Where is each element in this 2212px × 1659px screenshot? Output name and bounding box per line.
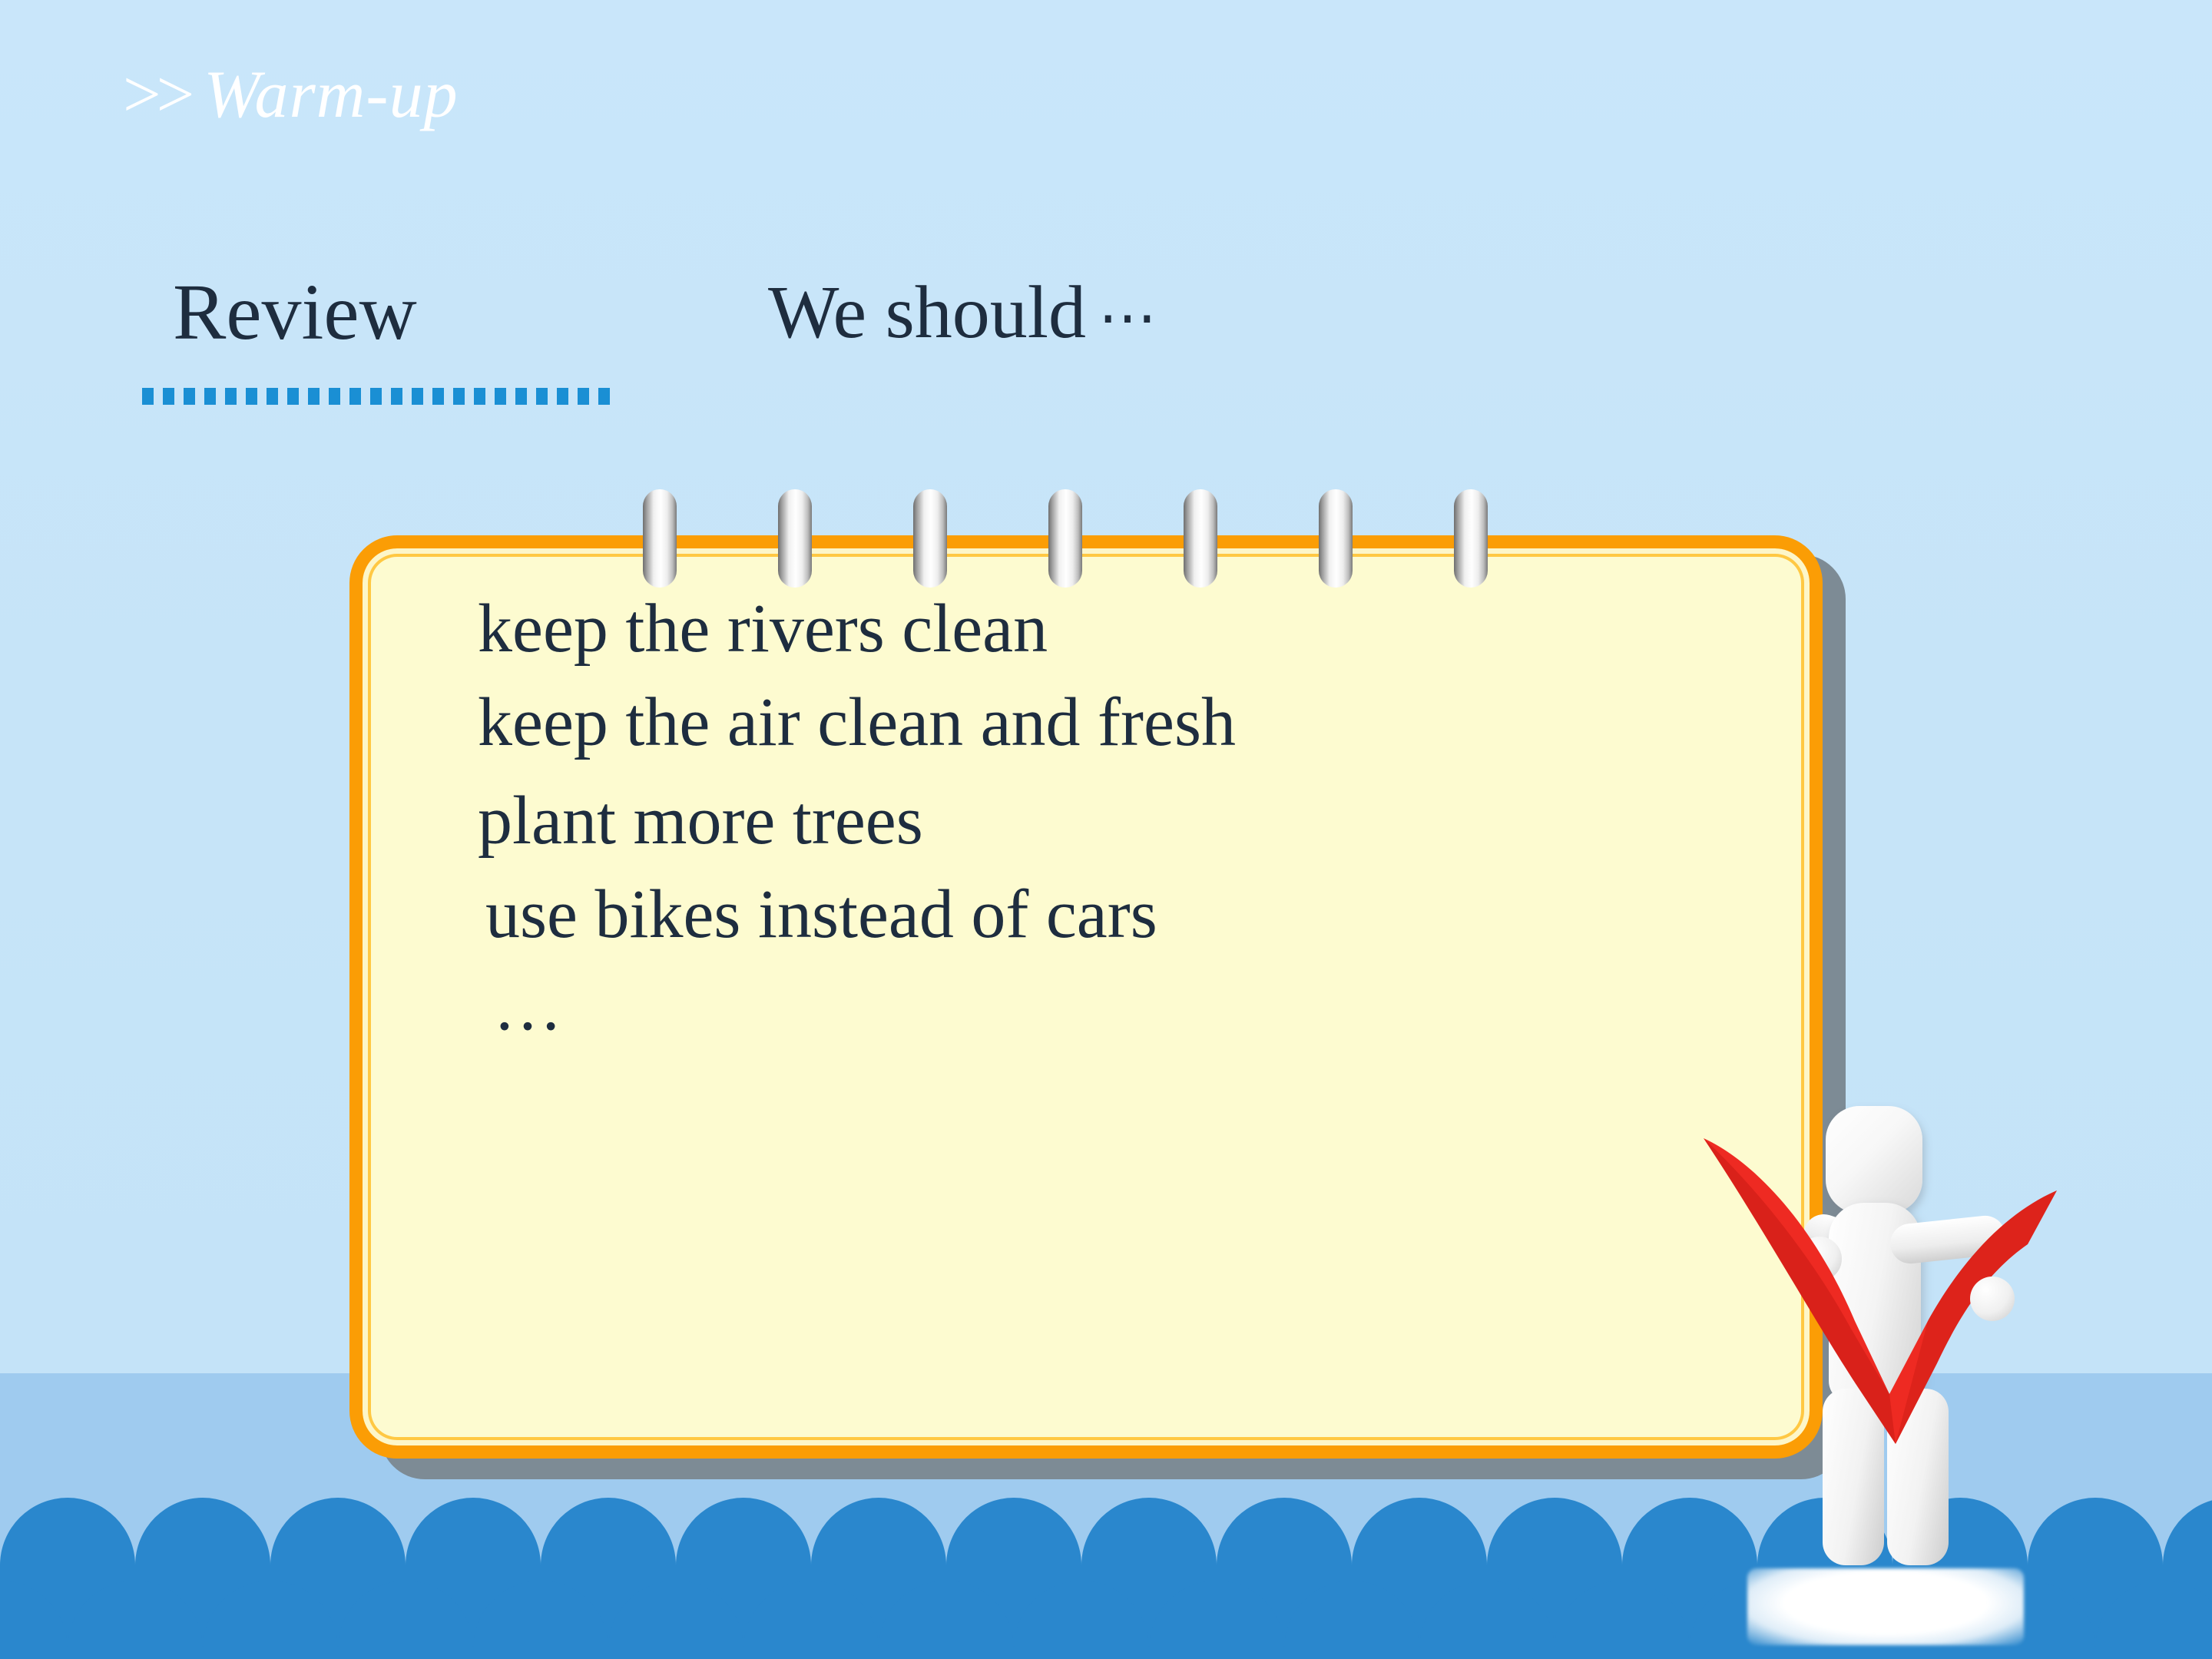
wave-arch bbox=[1284, 1581, 1419, 1659]
slide-canvas: >>Warm-up Review We should⋯ keep the riv… bbox=[0, 0, 2212, 1659]
prompt-ellipsis-icon: ⋯ bbox=[1086, 286, 1161, 350]
notepad-line: plant more trees bbox=[363, 786, 1925, 856]
wave-arch bbox=[608, 1581, 743, 1659]
spiral-ring bbox=[643, 489, 677, 588]
spiral-ring bbox=[1184, 489, 1217, 588]
wave-arch bbox=[203, 1581, 338, 1659]
prompt-text: We should⋯ bbox=[768, 275, 1161, 350]
wave-arch bbox=[1014, 1581, 1149, 1659]
wave-arch bbox=[0, 1581, 68, 1659]
wave-arch bbox=[68, 1581, 203, 1659]
section-marker-chevrons: >> bbox=[123, 58, 204, 132]
notepad-line: keep the rivers clean bbox=[363, 594, 1925, 664]
wave-arch bbox=[1149, 1581, 1284, 1659]
notepad-panel: keep the rivers cleankeep the air clean … bbox=[349, 535, 1823, 1459]
figure-head bbox=[1826, 1106, 1922, 1214]
figure-left-hand bbox=[1797, 1237, 1842, 1281]
figure-right-leg bbox=[1887, 1389, 1949, 1565]
page-title: Review bbox=[173, 273, 417, 353]
wave-arch bbox=[338, 1581, 473, 1659]
page-title-dotted-underline bbox=[142, 388, 611, 405]
spiral-ring bbox=[1319, 489, 1353, 588]
wave-arch bbox=[879, 1581, 1014, 1659]
notepad-line: keep the air clean and fresh bbox=[363, 688, 1925, 757]
mascot-figure bbox=[1724, 1106, 2212, 1659]
figure-left-leg bbox=[1823, 1389, 1884, 1565]
wave-arch bbox=[743, 1581, 879, 1659]
notepad-line: … bbox=[363, 972, 1940, 1041]
wave-arch bbox=[1555, 1581, 1690, 1659]
spiral-ring bbox=[1048, 489, 1082, 588]
figure-ground-shadow bbox=[1747, 1568, 2024, 1645]
spiral-ring bbox=[778, 489, 812, 588]
section-title-text: Warm-up bbox=[204, 58, 458, 132]
spiral-ring bbox=[913, 489, 947, 588]
wave-arch bbox=[473, 1581, 608, 1659]
wave-arch bbox=[1419, 1581, 1555, 1659]
notepad-line: use bikes instead of cars bbox=[363, 880, 1932, 949]
spiral-ring bbox=[1454, 489, 1488, 588]
prompt-label: We should bbox=[768, 271, 1086, 354]
figure-right-hand bbox=[1970, 1277, 2015, 1321]
section-title: >>Warm-up bbox=[123, 60, 459, 131]
